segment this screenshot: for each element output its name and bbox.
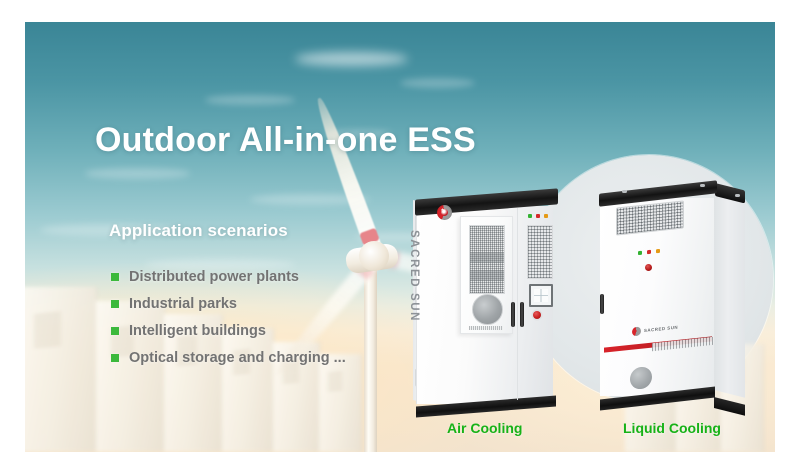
panel-display-screen[interactable]	[529, 284, 553, 307]
application-scenario-list: Distributed power plants Industrial park…	[111, 263, 346, 371]
led-run-icon	[638, 251, 642, 255]
emergency-stop-button[interactable]	[533, 311, 541, 319]
cabinet-door-handle	[600, 294, 604, 314]
cabinet-door-seam	[517, 208, 518, 400]
control-panel	[526, 214, 553, 364]
emergency-stop-button[interactable]	[645, 264, 652, 271]
brand-name-label: SACRED SUN	[644, 325, 678, 334]
led-charge-icon	[544, 214, 548, 218]
product-air-cooling-cabinet: SACRED SUN	[413, 190, 563, 412]
section-subtitle: Application scenarios	[109, 221, 288, 241]
slide-canvas: Outdoor All-in-one ESS Application scena…	[0, 0, 800, 469]
lifting-eye-icon	[700, 184, 705, 187]
list-item-label: Distributed power plants	[129, 269, 299, 285]
sacred-sun-logo-icon	[437, 205, 452, 220]
ac-bottom-vent	[469, 326, 503, 330]
bullet-square-icon	[111, 327, 119, 335]
product-liquid-cooling-cabinet: SACRED SUN	[596, 182, 748, 410]
ac-fan-icon	[472, 294, 503, 325]
ac-intake-grille-icon	[469, 225, 505, 294]
promo-banner: Outdoor All-in-one ESS Application scena…	[25, 22, 775, 452]
led-alarm-icon	[536, 214, 540, 218]
cabinet-door-handle	[511, 302, 515, 327]
led-run-icon	[528, 214, 532, 218]
bullet-square-icon	[111, 273, 119, 281]
cabinet-right-side-panel	[714, 194, 745, 398]
cabinet-door-handle	[520, 302, 524, 327]
caption-air-cooling: Air Cooling	[447, 420, 522, 436]
air-conditioner-unit	[460, 216, 513, 334]
lifting-eye-icon	[735, 194, 740, 197]
list-item: Distributed power plants	[111, 263, 346, 290]
lifting-eye-icon	[622, 190, 627, 193]
list-item: Industrial parks	[111, 290, 346, 317]
sacred-sun-logo-icon	[632, 326, 641, 336]
list-item-label: Intelligent buildings	[129, 323, 266, 339]
led-alarm-icon	[647, 250, 651, 254]
caption-liquid-cooling: Liquid Cooling	[623, 420, 721, 436]
led-charge-icon	[656, 249, 660, 253]
list-item-label: Optical storage and charging ...	[129, 350, 346, 366]
status-led-group	[528, 214, 548, 218]
turbine-hub	[359, 241, 389, 271]
turbine-tower	[364, 264, 377, 452]
list-item: Intelligent buildings	[111, 317, 346, 344]
brand-name-vertical: SACRED SUN	[408, 230, 420, 320]
panel-vent-grille-icon	[527, 225, 553, 279]
bullet-square-icon	[111, 300, 119, 308]
page-title: Outdoor All-in-one ESS	[95, 121, 476, 160]
bullet-square-icon	[111, 354, 119, 362]
cloud-icon	[85, 168, 190, 178]
list-item: Optical storage and charging ...	[111, 344, 346, 371]
list-item-label: Industrial parks	[129, 296, 237, 312]
